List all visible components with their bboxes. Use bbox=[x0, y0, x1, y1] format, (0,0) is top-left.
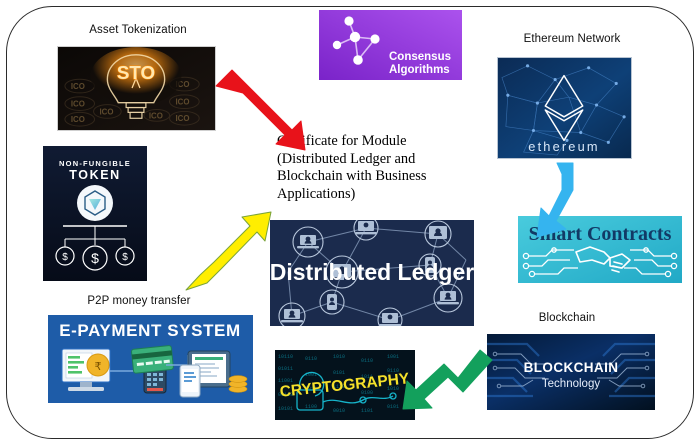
diagram-canvas: Asset Tokenization bbox=[0, 0, 700, 445]
red-arrow-asset-to-center bbox=[216, 70, 305, 150]
yellow-arrow-p2p-to-center bbox=[186, 212, 271, 290]
green-arrow-blockchain-to-center bbox=[403, 350, 492, 409]
blue-arrow-ethereum-to-center bbox=[537, 163, 573, 237]
arrow-layer bbox=[0, 0, 700, 445]
